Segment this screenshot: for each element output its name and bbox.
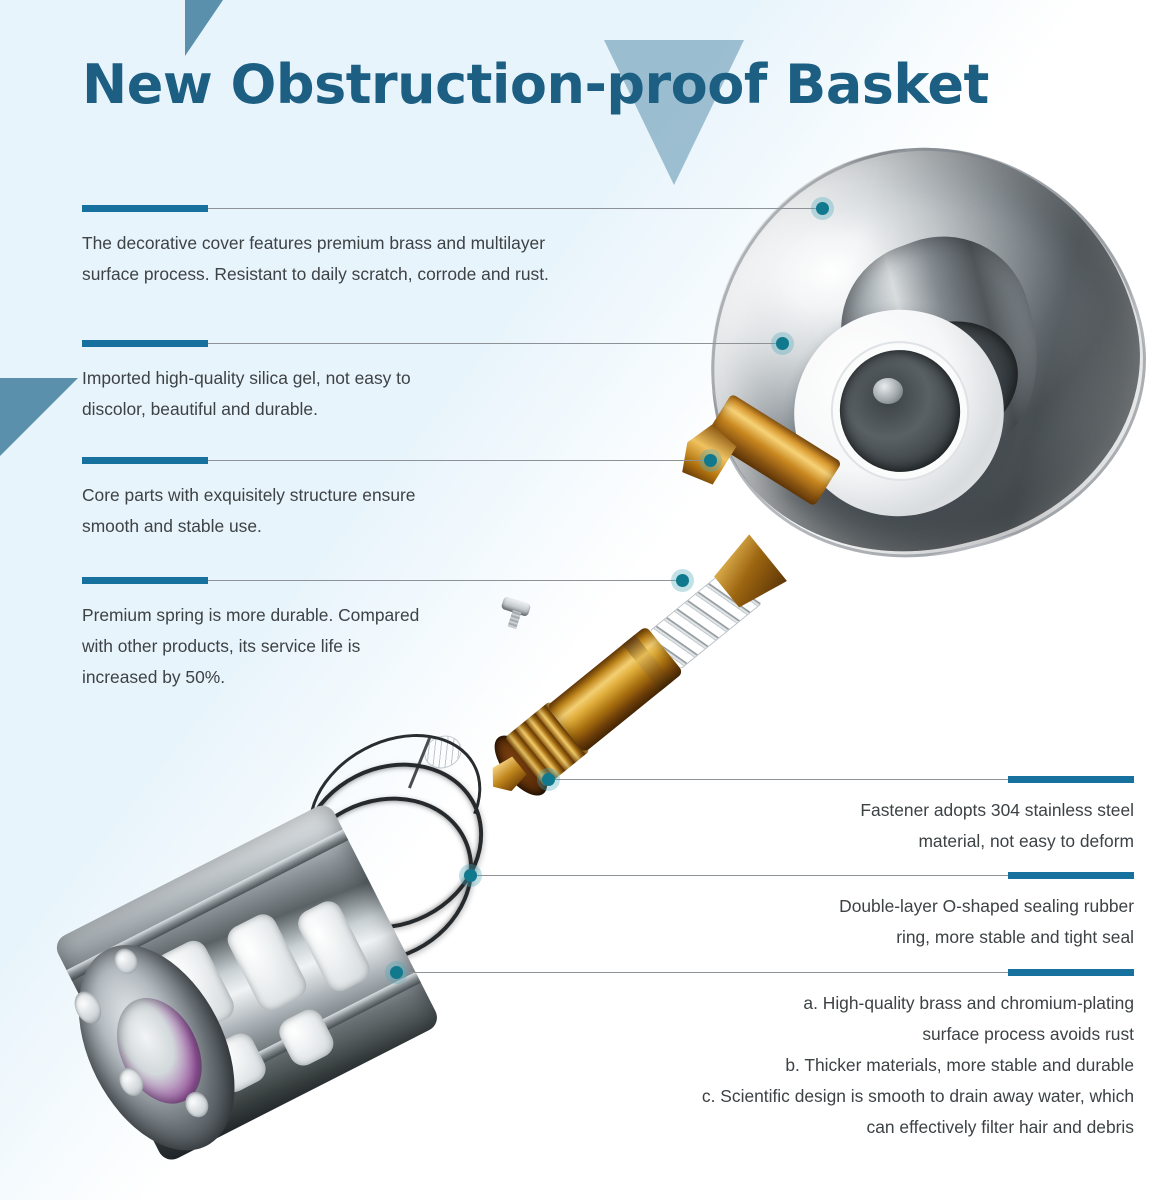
chrome-cover-illustration — [688, 128, 1154, 578]
infographic-canvas: New Obstruction-proof Basket — [0, 0, 1154, 1200]
callout-dot — [390, 966, 403, 979]
callout-accent-bar — [1008, 776, 1134, 783]
callout-text: Premium spring is more durable. Compared… — [82, 600, 512, 693]
callout-accent-bar — [1008, 872, 1134, 879]
callout-accent-bar — [82, 205, 208, 212]
callout-accent-bar — [82, 340, 208, 347]
callout-accent-bar — [82, 457, 208, 464]
callout-dot — [704, 454, 717, 467]
callout-dot — [464, 869, 477, 882]
callout-text: Fastener adopts 304 stainless steel mate… — [548, 795, 1134, 857]
callout-dot — [776, 337, 789, 350]
silica-center-nub — [873, 378, 903, 404]
callout-text: Core parts with exquisitely structure en… — [82, 480, 602, 542]
callout-text: Imported high-quality silica gel, not ea… — [82, 363, 622, 425]
decorative-triangle-left — [0, 378, 78, 456]
callout-text: a. High-quality brass and chromium-plati… — [396, 988, 1134, 1143]
callout-dot — [676, 574, 689, 587]
callout-accent-bar — [1008, 969, 1134, 976]
callout-accent-bar — [82, 577, 208, 584]
callout-text: The decorative cover features premium br… — [82, 228, 682, 290]
callout-dot — [816, 202, 829, 215]
callout-dot — [542, 773, 555, 786]
callout-text: Double-layer O-shaped sealing rubber rin… — [470, 891, 1134, 953]
page-title: New Obstruction-proof Basket — [82, 53, 989, 116]
decorative-triangle-top — [185, 0, 223, 56]
